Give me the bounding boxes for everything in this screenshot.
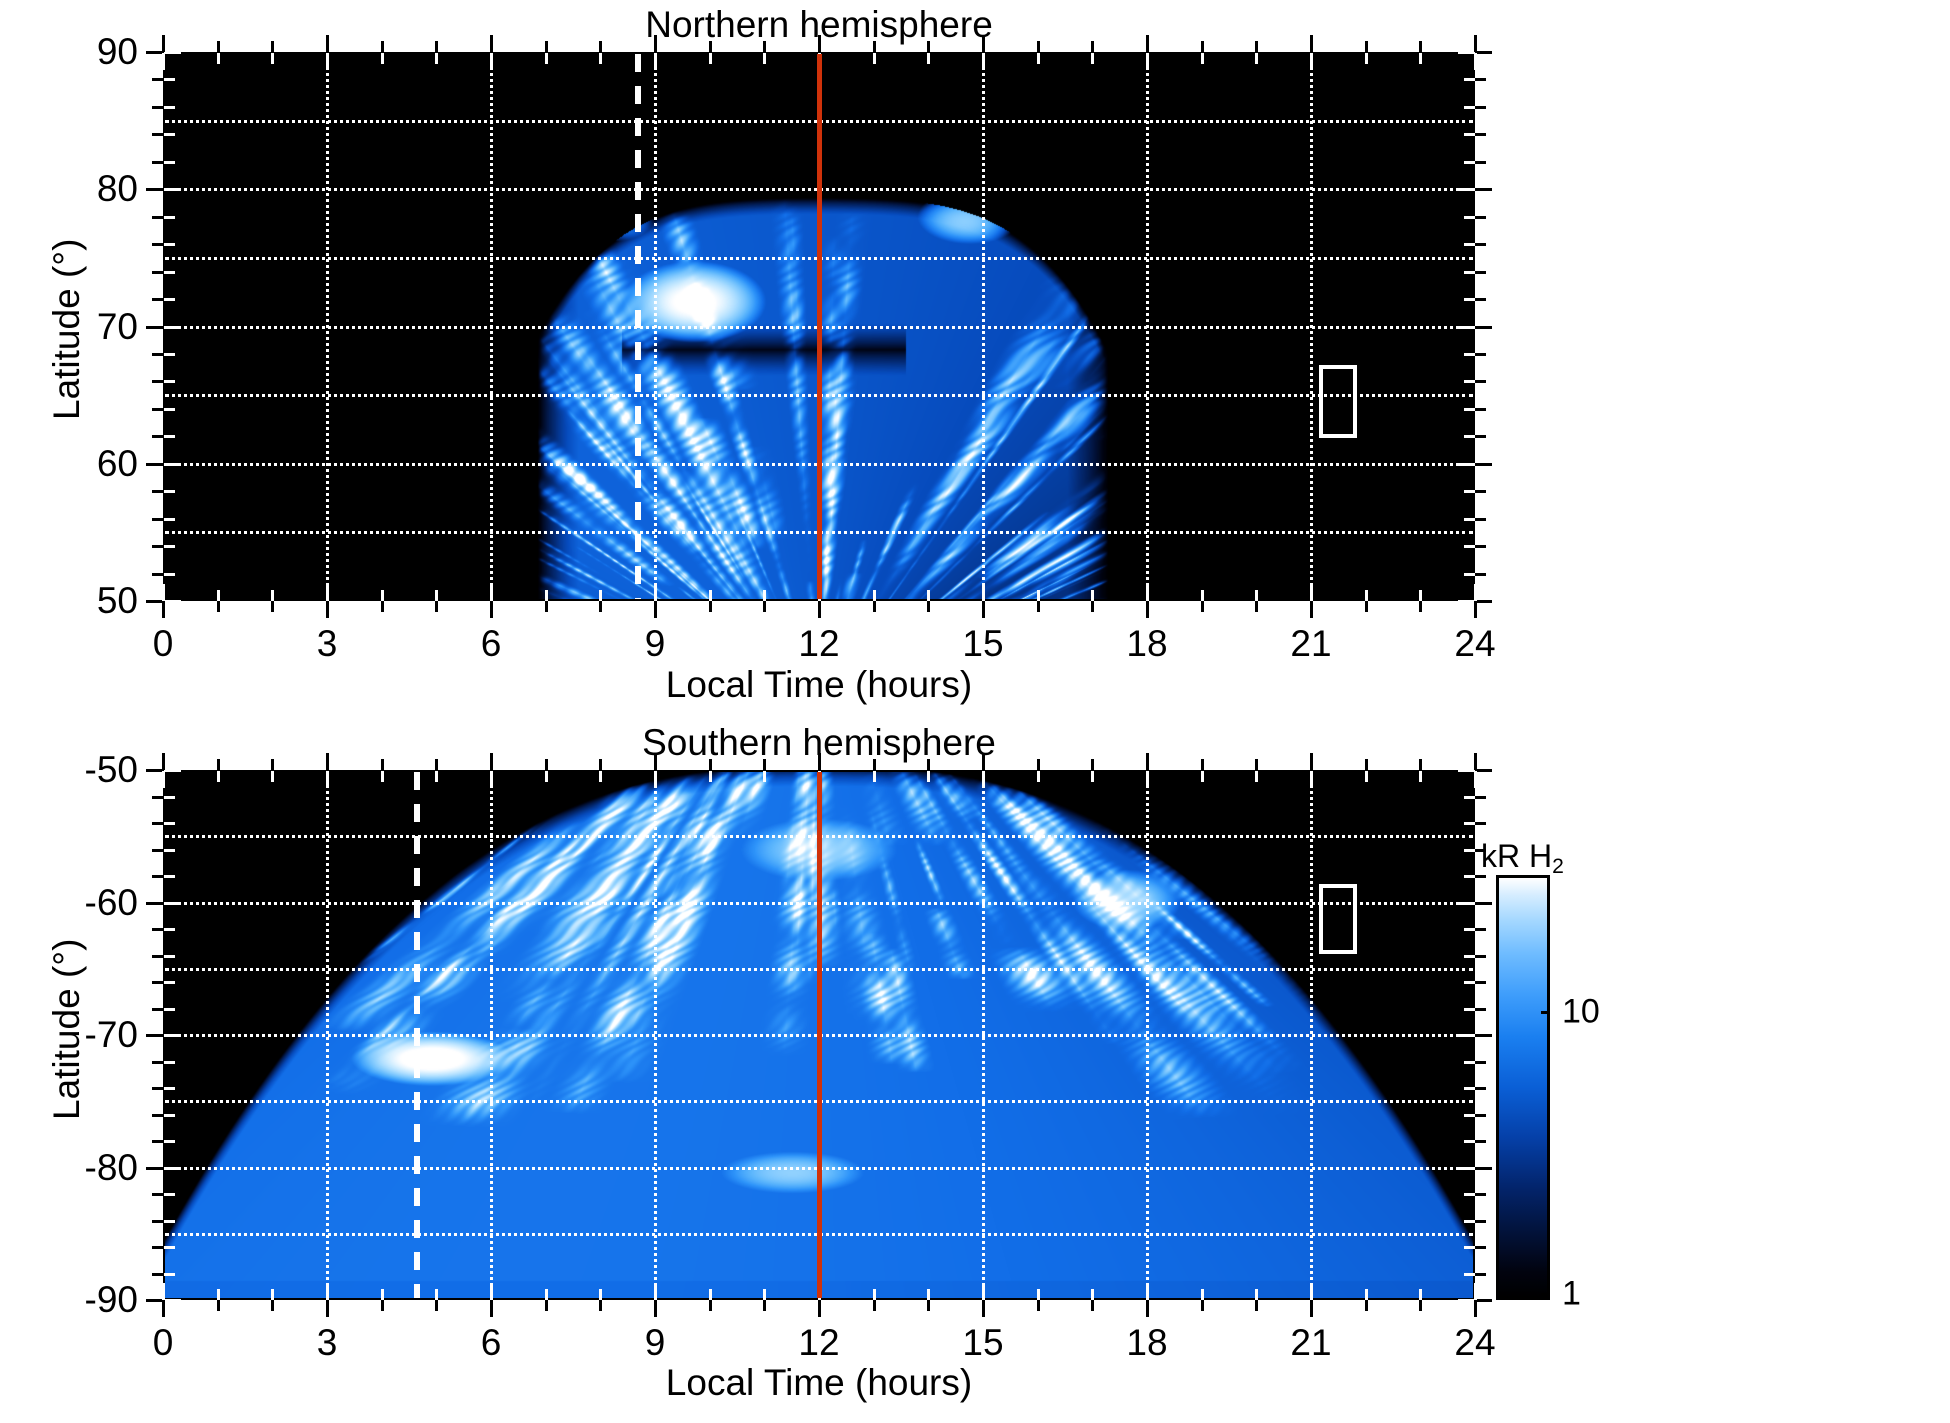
y-tick-major <box>146 326 163 329</box>
x-tick-minor-top-inner <box>545 771 548 782</box>
y-tick-minor-inner <box>164 216 175 219</box>
x-tick-minor-top-inner <box>1255 771 1258 782</box>
x-tick-minor-top <box>217 41 220 52</box>
x-tick-major-inner <box>490 584 493 601</box>
x-tick-minor-top <box>271 41 274 52</box>
x-tick-minor-top <box>709 41 712 52</box>
x-tick-major <box>982 1300 985 1317</box>
y-tick-major <box>146 1299 163 1302</box>
x-ticklabel: 24 <box>1454 623 1495 665</box>
y-tick-major <box>146 902 163 905</box>
y-tick-minor-right-inner <box>1464 1220 1475 1223</box>
northern-y-axis-title: Latitude (°) <box>46 239 88 420</box>
x-tick-minor-top-inner <box>1091 771 1094 782</box>
x-tick-top-inner <box>982 53 985 70</box>
y-tick-minor-right-inner <box>1464 78 1475 81</box>
y-tick-major-inner <box>164 769 181 772</box>
x-tick-minor <box>381 1300 384 1311</box>
x-tick-minor-top-inner <box>599 53 602 64</box>
x-ticklabel: 9 <box>645 623 666 665</box>
x-tick-major-inner <box>162 1283 165 1300</box>
y-ticklabel: 90 <box>0 31 138 73</box>
x-tick-minor-top <box>381 41 384 52</box>
x-tick-minor-inner <box>599 590 602 601</box>
y-ticklabel: -50 <box>0 749 138 791</box>
y-tick-right-inner <box>1458 51 1475 54</box>
x-tick-minor-top <box>1365 759 1368 770</box>
y-tick-right-inner <box>1458 1167 1475 1170</box>
y-tick-minor <box>152 435 163 438</box>
x-tick-minor-top-inner <box>599 771 602 782</box>
y-tick-minor <box>152 981 163 984</box>
x-tick-major <box>326 601 329 618</box>
x-tick-top <box>326 35 329 52</box>
x-tick-minor-top <box>545 41 548 52</box>
x-tick-minor-top-inner <box>1419 53 1422 64</box>
y-tick-minor-right <box>1475 106 1486 109</box>
x-tick-minor-inner <box>927 1289 930 1300</box>
x-tick-minor-top-inner <box>927 53 930 64</box>
x-tick-minor <box>873 601 876 612</box>
y-tick-minor-inner <box>164 796 175 799</box>
x-tick-minor-inner <box>1365 590 1368 601</box>
y-tick-minor <box>152 573 163 576</box>
x-ticklabel: 0 <box>153 623 174 665</box>
x-tick-minor-inner <box>599 1289 602 1300</box>
x-tick-minor-inner <box>381 1289 384 1300</box>
y-tick-major-inner <box>164 188 181 191</box>
y-tick-minor-right-inner <box>1464 875 1475 878</box>
x-tick-minor-top <box>709 759 712 770</box>
x-tick-minor-top <box>763 759 766 770</box>
colorbar-gradient <box>1496 875 1550 1300</box>
x-tick-major-inner <box>654 1283 657 1300</box>
y-tick-minor-right <box>1475 1193 1486 1196</box>
y-tick-minor-right <box>1475 161 1486 164</box>
x-tick-top <box>1474 753 1477 770</box>
x-tick-minor-top <box>271 759 274 770</box>
x-tick-minor-top-inner <box>927 771 930 782</box>
colorbar-ticklabel: 1 <box>1562 1275 1581 1314</box>
y-tick-minor-inner <box>164 490 175 493</box>
y-tick-minor-right-inner <box>1464 298 1475 301</box>
x-tick-minor-top <box>927 759 930 770</box>
x-tick-minor-top-inner <box>1201 53 1204 64</box>
y-tick-minor-right <box>1475 545 1486 548</box>
x-tick-minor-inner <box>271 1289 274 1300</box>
y-tick-minor-right <box>1475 1114 1486 1117</box>
x-tick-top <box>1310 753 1313 770</box>
y-tick-minor-inner <box>164 518 175 521</box>
x-tick-minor-top <box>435 41 438 52</box>
y-tick-minor <box>152 1273 163 1276</box>
y-tick-major-inner <box>164 1034 181 1037</box>
y-tick-minor <box>152 1220 163 1223</box>
y-tick-minor-right <box>1475 955 1486 958</box>
y-tick-minor <box>152 380 163 383</box>
x-tick-top <box>1146 35 1149 52</box>
x-tick-minor <box>271 1300 274 1311</box>
x-tick-minor-inner <box>545 1289 548 1300</box>
x-tick-minor-top <box>873 41 876 52</box>
x-tick-minor-inner <box>927 590 930 601</box>
x-tick-minor <box>1255 601 1258 612</box>
y-tick-right <box>1475 902 1492 905</box>
y-tick-major <box>146 188 163 191</box>
x-tick-minor-inner <box>1091 1289 1094 1300</box>
y-tick-minor-right-inner <box>1464 518 1475 521</box>
y-tick-minor-right-inner <box>1464 490 1475 493</box>
x-tick-minor-top <box>1091 41 1094 52</box>
y-tick-minor-inner <box>164 1114 175 1117</box>
noon-meridian-line <box>817 772 822 1298</box>
x-tick-minor-inner <box>763 590 766 601</box>
x-tick-minor-top-inner <box>217 771 220 782</box>
y-tick-right-inner <box>1458 326 1475 329</box>
x-tick-top <box>1474 35 1477 52</box>
y-tick-minor-right <box>1475 1246 1486 1249</box>
y-tick-right-inner <box>1458 1034 1475 1037</box>
y-tick-minor-inner <box>164 106 175 109</box>
x-tick-minor-inner <box>1037 1289 1040 1300</box>
x-tick-top-inner <box>1146 53 1149 70</box>
terminator-dashed-line <box>414 772 420 1298</box>
y-tick-minor-inner <box>164 545 175 548</box>
y-tick-major-inner <box>164 1167 181 1170</box>
y-tick-minor <box>152 490 163 493</box>
x-tick-major-inner <box>162 584 165 601</box>
x-tick-minor-top <box>1255 759 1258 770</box>
y-tick-minor-right <box>1475 353 1486 356</box>
colorbar-title: kR H2 <box>1481 838 1564 879</box>
x-tick-major-inner <box>326 1283 329 1300</box>
y-tick-minor <box>152 1246 163 1249</box>
x-tick-minor-top-inner <box>545 53 548 64</box>
y-tick-minor-right-inner <box>1464 1008 1475 1011</box>
y-tick-minor-right <box>1475 928 1486 931</box>
x-tick-top <box>162 35 165 52</box>
y-tick-minor-right-inner <box>1464 1140 1475 1143</box>
x-tick-minor-top-inner <box>271 53 274 64</box>
y-tick-minor-inner <box>164 133 175 136</box>
x-tick-minor <box>1201 1300 1204 1311</box>
y-tick-major <box>146 769 163 772</box>
colorbar-tick <box>1541 1011 1550 1014</box>
x-ticklabel: 3 <box>317 1322 338 1364</box>
x-ticklabel: 21 <box>1290 1322 1331 1364</box>
y-tick-minor-inner <box>164 1061 175 1064</box>
y-tick-minor-right-inner <box>1464 545 1475 548</box>
x-tick-minor-inner <box>1419 590 1422 601</box>
x-tick-minor-top <box>435 759 438 770</box>
colorbar-tick <box>1541 1293 1550 1296</box>
y-tick-minor-inner <box>164 408 175 411</box>
y-tick-minor-inner <box>164 875 175 878</box>
y-tick-minor-inner <box>164 981 175 984</box>
y-tick-major <box>146 1034 163 1037</box>
x-tick-top <box>326 753 329 770</box>
x-tick-minor-top <box>381 759 384 770</box>
x-tick-major-inner <box>1474 1283 1477 1300</box>
y-tick-major <box>146 51 163 54</box>
x-tick-minor-top-inner <box>271 771 274 782</box>
x-tick-minor <box>1419 601 1422 612</box>
y-tick-right <box>1475 1299 1492 1302</box>
x-tick-major <box>1310 1300 1313 1317</box>
y-tick-minor-right <box>1475 216 1486 219</box>
x-tick-minor-top <box>1365 41 1368 52</box>
x-ticklabel: 18 <box>1126 1322 1167 1364</box>
y-tick-minor-inner <box>164 1193 175 1196</box>
x-tick-major-inner <box>326 584 329 601</box>
y-tick-right <box>1475 51 1492 54</box>
x-tick-top-inner <box>1310 771 1313 788</box>
x-tick-minor-top-inner <box>763 771 766 782</box>
y-tick-minor-right-inner <box>1464 981 1475 984</box>
y-tick-minor-right-inner <box>1464 435 1475 438</box>
x-tick-minor <box>381 601 384 612</box>
y-ticklabel: 80 <box>0 168 138 210</box>
y-tick-minor-inner <box>164 380 175 383</box>
y-tick-minor <box>152 78 163 81</box>
x-tick-major <box>818 601 821 618</box>
y-tick-minor-right <box>1475 298 1486 301</box>
x-tick-minor-top <box>1091 759 1094 770</box>
y-tick-minor-right <box>1475 1087 1486 1090</box>
x-tick-major-inner <box>1146 1283 1149 1300</box>
y-tick-minor-right <box>1475 518 1486 521</box>
x-tick-minor-inner <box>1255 590 1258 601</box>
y-tick-minor-right-inner <box>1464 133 1475 136</box>
y-tick-minor-inner <box>164 928 175 931</box>
x-tick-minor-top <box>1201 759 1204 770</box>
y-tick-minor-right-inner <box>1464 243 1475 246</box>
x-tick-minor-top <box>763 41 766 52</box>
x-tick-top-inner <box>326 771 329 788</box>
y-tick-right-inner <box>1458 1299 1475 1302</box>
y-tick-minor-right-inner <box>1464 573 1475 576</box>
y-tick-minor-inner <box>164 1140 175 1143</box>
y-tick-minor-right <box>1475 1220 1486 1223</box>
reference-box-marker <box>1319 884 1357 954</box>
y-tick-minor-right-inner <box>1464 1273 1475 1276</box>
x-ticklabel: 6 <box>481 1322 502 1364</box>
y-tick-minor-right <box>1475 1008 1486 1011</box>
colorbar-title-text: kR H <box>1481 838 1552 874</box>
x-tick-minor-top-inner <box>873 771 876 782</box>
y-tick-right-inner <box>1458 769 1475 772</box>
x-ticklabel: 15 <box>962 1322 1003 1364</box>
y-tick-minor-right-inner <box>1464 849 1475 852</box>
x-tick-minor <box>545 1300 548 1311</box>
x-tick-major <box>490 601 493 618</box>
y-tick-minor-right <box>1475 435 1486 438</box>
y-tick-minor <box>152 216 163 219</box>
y-tick-minor-inner <box>164 1220 175 1223</box>
y-tick-minor-right <box>1475 380 1486 383</box>
x-tick-minor-top-inner <box>381 771 384 782</box>
y-tick-minor-right <box>1475 408 1486 411</box>
y-tick-minor-right-inner <box>1464 271 1475 274</box>
x-tick-top-inner <box>162 771 165 788</box>
x-tick-minor-inner <box>381 590 384 601</box>
y-tick-minor-inner <box>164 955 175 958</box>
x-ticklabel: 0 <box>153 1322 174 1364</box>
southern-x-axis-title: Local Time (hours) <box>666 1362 972 1404</box>
x-tick-major <box>818 1300 821 1317</box>
y-tick-right-inner <box>1458 600 1475 603</box>
x-tick-minor-top <box>599 759 602 770</box>
x-tick-major-inner <box>1310 1283 1313 1300</box>
x-tick-top <box>982 753 985 770</box>
x-tick-minor-top <box>1201 41 1204 52</box>
x-tick-minor-inner <box>1201 590 1204 601</box>
x-tick-minor-top-inner <box>1365 771 1368 782</box>
colorbar-title-subscript: 2 <box>1552 855 1564 878</box>
x-tick-top <box>1146 753 1149 770</box>
x-tick-major <box>1474 601 1477 618</box>
y-tick-minor <box>152 822 163 825</box>
x-tick-minor-top-inner <box>709 771 712 782</box>
y-tick-right-inner <box>1458 188 1475 191</box>
y-tick-minor-right-inner <box>1464 955 1475 958</box>
y-tick-minor-right-inner <box>1464 408 1475 411</box>
x-tick-minor-top-inner <box>381 53 384 64</box>
x-tick-major-inner <box>1146 584 1149 601</box>
y-tick-major-inner <box>164 1299 181 1302</box>
x-tick-minor-top <box>545 759 548 770</box>
x-tick-minor <box>217 1300 220 1311</box>
x-tick-minor-top-inner <box>435 53 438 64</box>
y-tick-minor <box>152 1008 163 1011</box>
y-tick-minor-inner <box>164 1246 175 1249</box>
y-tick-minor-right <box>1475 1061 1486 1064</box>
x-tick-minor <box>545 601 548 612</box>
y-tick-minor <box>152 955 163 958</box>
y-tick-minor-right-inner <box>1464 353 1475 356</box>
terminator-dashed-line <box>635 54 641 599</box>
x-tick-top-inner <box>162 53 165 70</box>
x-tick-top-inner <box>490 53 493 70</box>
figure-root: Northern hemisphere 5060708090 036912151… <box>0 0 1950 1423</box>
y-tick-right <box>1475 463 1492 466</box>
y-tick-minor-right-inner <box>1464 1114 1475 1117</box>
x-ticklabel: 15 <box>962 623 1003 665</box>
y-tick-minor-inner <box>164 435 175 438</box>
x-tick-minor <box>927 601 930 612</box>
x-tick-minor-top-inner <box>1201 771 1204 782</box>
x-tick-minor-top <box>1037 759 1040 770</box>
x-tick-minor-top <box>1255 41 1258 52</box>
y-tick-minor-right-inner <box>1464 822 1475 825</box>
x-tick-minor <box>599 601 602 612</box>
x-tick-major <box>1146 1300 1149 1317</box>
x-tick-major <box>982 601 985 618</box>
y-tick-minor-inner <box>164 78 175 81</box>
y-tick-minor-inner <box>164 271 175 274</box>
y-tick-major <box>146 1167 163 1170</box>
x-tick-minor <box>1365 1300 1368 1311</box>
y-tick-minor <box>152 161 163 164</box>
x-tick-top <box>490 35 493 52</box>
x-tick-top <box>818 753 821 770</box>
y-ticklabel: -90 <box>0 1279 138 1321</box>
x-tick-minor-top <box>873 759 876 770</box>
y-tick-minor-right <box>1475 490 1486 493</box>
x-tick-minor-top <box>1419 41 1422 52</box>
x-tick-major <box>1474 1300 1477 1317</box>
x-tick-minor-inner <box>1365 1289 1368 1300</box>
y-ticklabel: 60 <box>0 443 138 485</box>
y-tick-minor <box>152 1061 163 1064</box>
x-tick-minor-inner <box>1201 1289 1204 1300</box>
y-tick-minor-inner <box>164 298 175 301</box>
x-ticklabel: 21 <box>1290 623 1331 665</box>
x-tick-minor-top-inner <box>1037 771 1040 782</box>
y-tick-minor <box>152 545 163 548</box>
x-tick-minor-inner <box>217 590 220 601</box>
y-tick-right-inner <box>1458 902 1475 905</box>
x-tick-minor-inner <box>271 590 274 601</box>
x-tick-major <box>1310 601 1313 618</box>
y-tick-minor <box>152 298 163 301</box>
x-ticklabel: 18 <box>1126 623 1167 665</box>
x-ticklabel: 24 <box>1454 1322 1495 1364</box>
x-tick-minor <box>1091 601 1094 612</box>
x-tick-minor-top-inner <box>763 53 766 64</box>
y-tick-minor-right <box>1475 78 1486 81</box>
x-tick-top <box>654 753 657 770</box>
y-tick-minor-inner <box>164 1008 175 1011</box>
x-tick-minor-top-inner <box>873 53 876 64</box>
x-tick-major-inner <box>1310 584 1313 601</box>
x-tick-minor <box>709 601 712 612</box>
y-tick-minor-right-inner <box>1464 106 1475 109</box>
y-tick-minor-right-inner <box>1464 216 1475 219</box>
x-tick-top <box>654 35 657 52</box>
x-tick-minor-top <box>1419 759 1422 770</box>
x-tick-minor-inner <box>873 590 876 601</box>
y-tick-minor-right-inner <box>1464 1193 1475 1196</box>
x-tick-minor <box>271 601 274 612</box>
x-tick-top <box>490 753 493 770</box>
x-tick-top-inner <box>1474 771 1477 788</box>
x-tick-major-inner <box>654 584 657 601</box>
x-tick-minor <box>1037 1300 1040 1311</box>
y-tick-major <box>146 463 163 466</box>
x-tick-major-inner <box>1474 584 1477 601</box>
noon-meridian-line <box>817 54 822 599</box>
x-ticklabel: 12 <box>798 623 839 665</box>
y-tick-minor-inner <box>164 822 175 825</box>
x-tick-minor <box>873 1300 876 1311</box>
y-tick-right <box>1475 1034 1492 1037</box>
y-tick-right <box>1475 326 1492 329</box>
x-tick-minor <box>927 1300 930 1311</box>
x-tick-minor-inner <box>435 590 438 601</box>
y-ticklabel: -80 <box>0 1147 138 1189</box>
y-tick-minor-inner <box>164 849 175 852</box>
northern-x-axis-title: Local Time (hours) <box>666 664 972 706</box>
x-tick-major-inner <box>982 584 985 601</box>
x-tick-minor-top-inner <box>709 53 712 64</box>
y-tick-major-inner <box>164 51 181 54</box>
x-tick-minor <box>599 1300 602 1311</box>
y-tick-minor-inner <box>164 1273 175 1276</box>
y-tick-minor-right-inner <box>1464 1061 1475 1064</box>
y-tick-minor-right <box>1475 1273 1486 1276</box>
x-tick-major-inner <box>982 1283 985 1300</box>
